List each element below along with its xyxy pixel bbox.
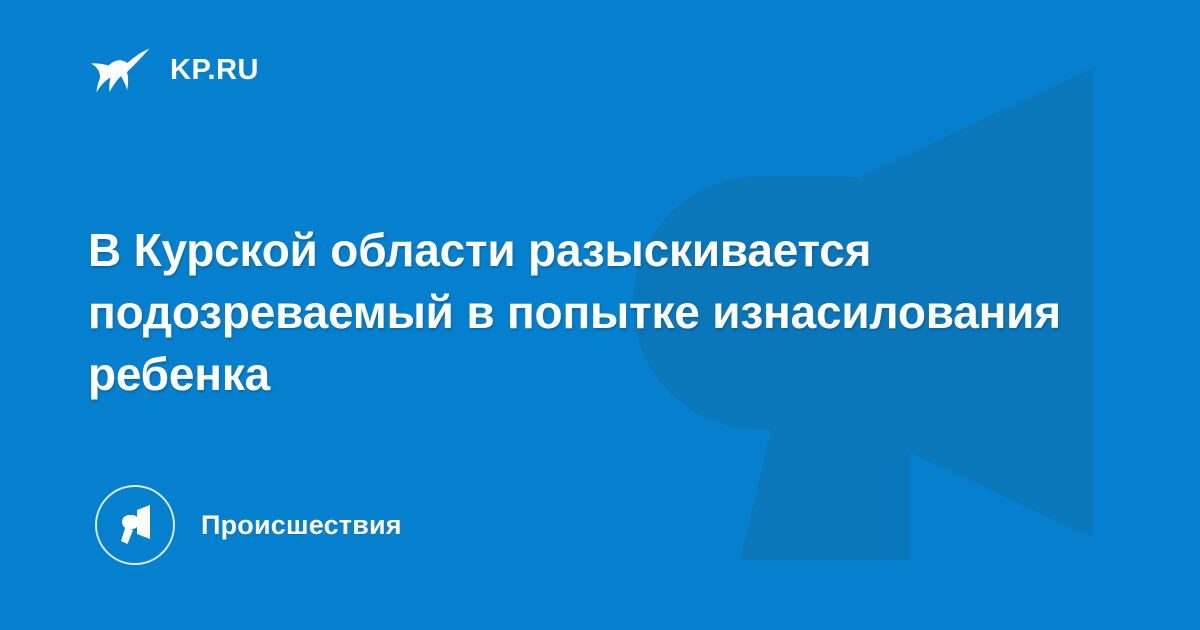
megaphone-icon bbox=[113, 503, 157, 547]
brand-header[interactable]: KP.RU bbox=[88, 38, 259, 102]
category-icon-circle bbox=[95, 485, 175, 565]
swallow-bird-icon bbox=[88, 38, 152, 102]
category-badge[interactable]: Происшествия bbox=[95, 484, 402, 566]
page-title: В Курской области разыскивается подозрев… bbox=[88, 219, 1098, 405]
social-share-card: KP.RU В Курской области разыскивается по… bbox=[0, 0, 1200, 630]
brand-name: KP.RU bbox=[170, 56, 259, 85]
category-label: Происшествия bbox=[201, 512, 402, 539]
